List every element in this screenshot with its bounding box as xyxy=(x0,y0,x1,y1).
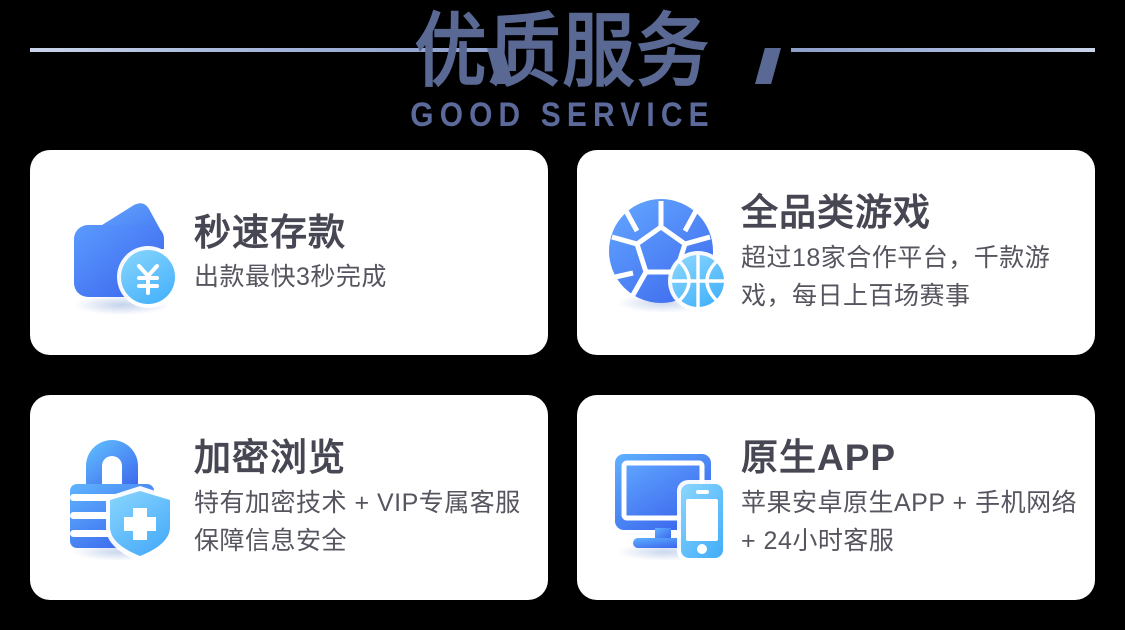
card-text-block: 原生APP 苹果安卓原生APP + 手机网络 + 24小时客服 xyxy=(735,436,1081,560)
soccer-basketball-icon xyxy=(603,183,735,323)
service-card-native-app[interactable]: 原生APP 苹果安卓原生APP + 手机网络 + 24小时客服 xyxy=(577,395,1095,600)
card-text-block: 秒速存款 出款最快3秒完成 xyxy=(188,211,534,295)
service-card-grid: 秒速存款 出款最快3秒完成 xyxy=(30,150,1095,610)
card-description: 出款最快3秒完成 xyxy=(194,259,534,295)
card-description: 特有加密技术 + VIP专属客服保障信息安全 xyxy=(194,484,534,560)
page-subtitle: GOOD SERVICE xyxy=(68,95,1058,135)
service-card-encryption[interactable]: 加密浏览 特有加密技术 + VIP专属客服保障信息安全 xyxy=(30,395,548,600)
card-description: 超过18家合作平台，千款游戏，每日上百场赛事 xyxy=(741,239,1081,315)
page-header: 优质服务 GOOD SERVICE xyxy=(0,0,1125,145)
card-title: 全品类游戏 xyxy=(741,191,1081,235)
service-card-deposit[interactable]: 秒速存款 出款最快3秒完成 xyxy=(30,150,548,355)
monitor-phone-icon xyxy=(603,428,735,568)
lock-shield-icon xyxy=(56,428,188,568)
card-title: 加密浏览 xyxy=(194,436,534,480)
card-text-block: 加密浏览 特有加密技术 + VIP专属客服保障信息安全 xyxy=(188,436,534,560)
service-card-games[interactable]: 全品类游戏 超过18家合作平台，千款游戏，每日上百场赛事 xyxy=(577,150,1095,355)
page-title: 优质服务 xyxy=(0,6,1125,96)
card-description: 苹果安卓原生APP + 手机网络 + 24小时客服 xyxy=(741,484,1081,560)
card-title: 原生APP xyxy=(741,436,1081,480)
card-text-block: 全品类游戏 超过18家合作平台，千款游戏，每日上百场赛事 xyxy=(735,191,1081,315)
wallet-yen-icon xyxy=(56,183,188,323)
card-title: 秒速存款 xyxy=(194,211,534,255)
